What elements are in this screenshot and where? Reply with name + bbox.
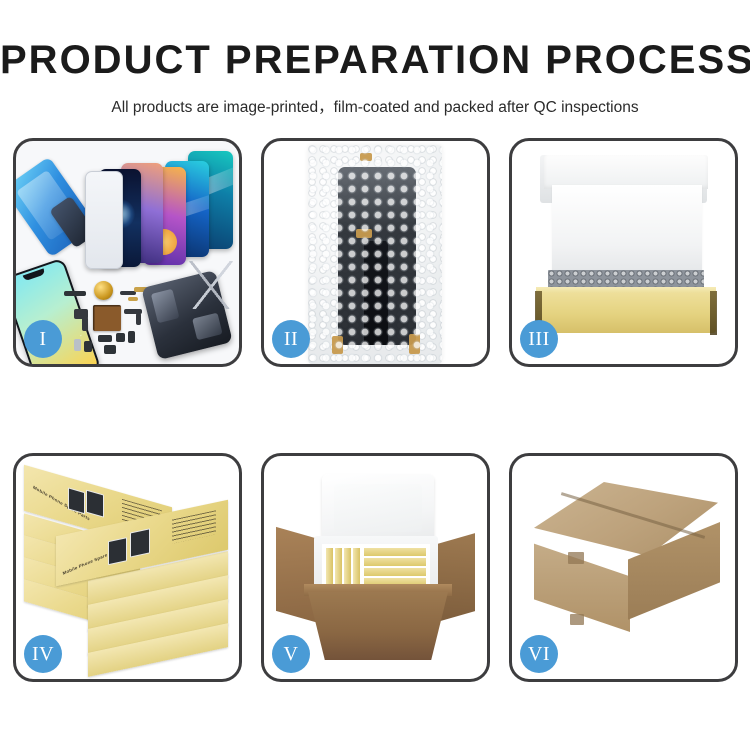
- packed-box-v3: [344, 548, 351, 586]
- flex-cable-gold-2: [128, 297, 138, 301]
- tweezers-tool: [185, 261, 237, 309]
- step-badge-1: I: [24, 320, 62, 358]
- step-badge-2: II: [272, 320, 310, 358]
- spare-part-bar-1: [64, 291, 86, 296]
- flex-cable-5: [136, 313, 141, 325]
- carton-body: [308, 592, 448, 660]
- step-badge-3: III: [520, 320, 558, 358]
- box-phone-image-front-2: [130, 528, 150, 557]
- packed-box-h3: [364, 568, 426, 576]
- step-panel-2: II: [261, 138, 490, 367]
- spare-part-chip-1: [98, 335, 112, 342]
- packed-box-h1: [364, 548, 426, 556]
- wrapped-part-shadow: [364, 241, 388, 345]
- tape-bottom-left: [332, 336, 343, 354]
- flex-cable-3: [82, 317, 88, 331]
- bubble-wrap-bag: [308, 145, 442, 364]
- steps-grid: I II: [13, 138, 737, 682]
- box-phone-image-front-1: [108, 537, 127, 565]
- step-badge-5: V: [272, 635, 310, 673]
- page-subtitle: All products are image-printed，film-coat…: [0, 83, 750, 117]
- packed-box-v1: [326, 548, 333, 586]
- tape-top: [360, 153, 372, 161]
- spare-part-button: [74, 339, 81, 351]
- product-preparation-infographic: PRODUCT PREPARATION PROCESS All products…: [0, 0, 750, 750]
- tape-mid: [356, 229, 372, 238]
- box-phone-image-back-2: [86, 490, 104, 518]
- page-title: PRODUCT PREPARATION PROCESS: [0, 0, 750, 83]
- spare-part-camera: [84, 341, 92, 352]
- packed-box-v2: [335, 548, 342, 586]
- step-panel-5: V: [261, 453, 490, 682]
- carton-tab-upper: [568, 552, 584, 564]
- packed-box-h2: [364, 558, 426, 566]
- step-panel-3: III: [509, 138, 738, 367]
- white-foam-sheet: [552, 185, 702, 271]
- yellow-box-body: [536, 293, 716, 333]
- step-badge-6: VI: [520, 635, 558, 673]
- chip-array-part: [93, 305, 121, 331]
- box-spec-text-front: [172, 510, 216, 543]
- box-lid: [544, 155, 708, 189]
- flex-cable-1: [120, 291, 136, 295]
- spare-part-chip-2: [116, 333, 125, 342]
- packed-box-v4: [353, 548, 360, 586]
- step-badge-4: IV: [24, 635, 62, 673]
- step-panel-6: VI: [509, 453, 738, 682]
- box-phone-image-back-1: [68, 487, 85, 514]
- header: PRODUCT PREPARATION PROCESS All products…: [0, 0, 750, 117]
- step-panel-1: I: [13, 138, 242, 367]
- carton-tab-lower: [570, 614, 584, 625]
- spare-part-chip-3: [128, 331, 135, 343]
- tempered-glass-sheet: [85, 171, 123, 269]
- gold-coil-part: [94, 281, 113, 300]
- tape-bottom-right: [409, 334, 420, 354]
- spare-part-speaker: [104, 345, 116, 354]
- step-panel-4: Mobile Phone Spare Parts Mobile Phone Sp…: [13, 453, 242, 682]
